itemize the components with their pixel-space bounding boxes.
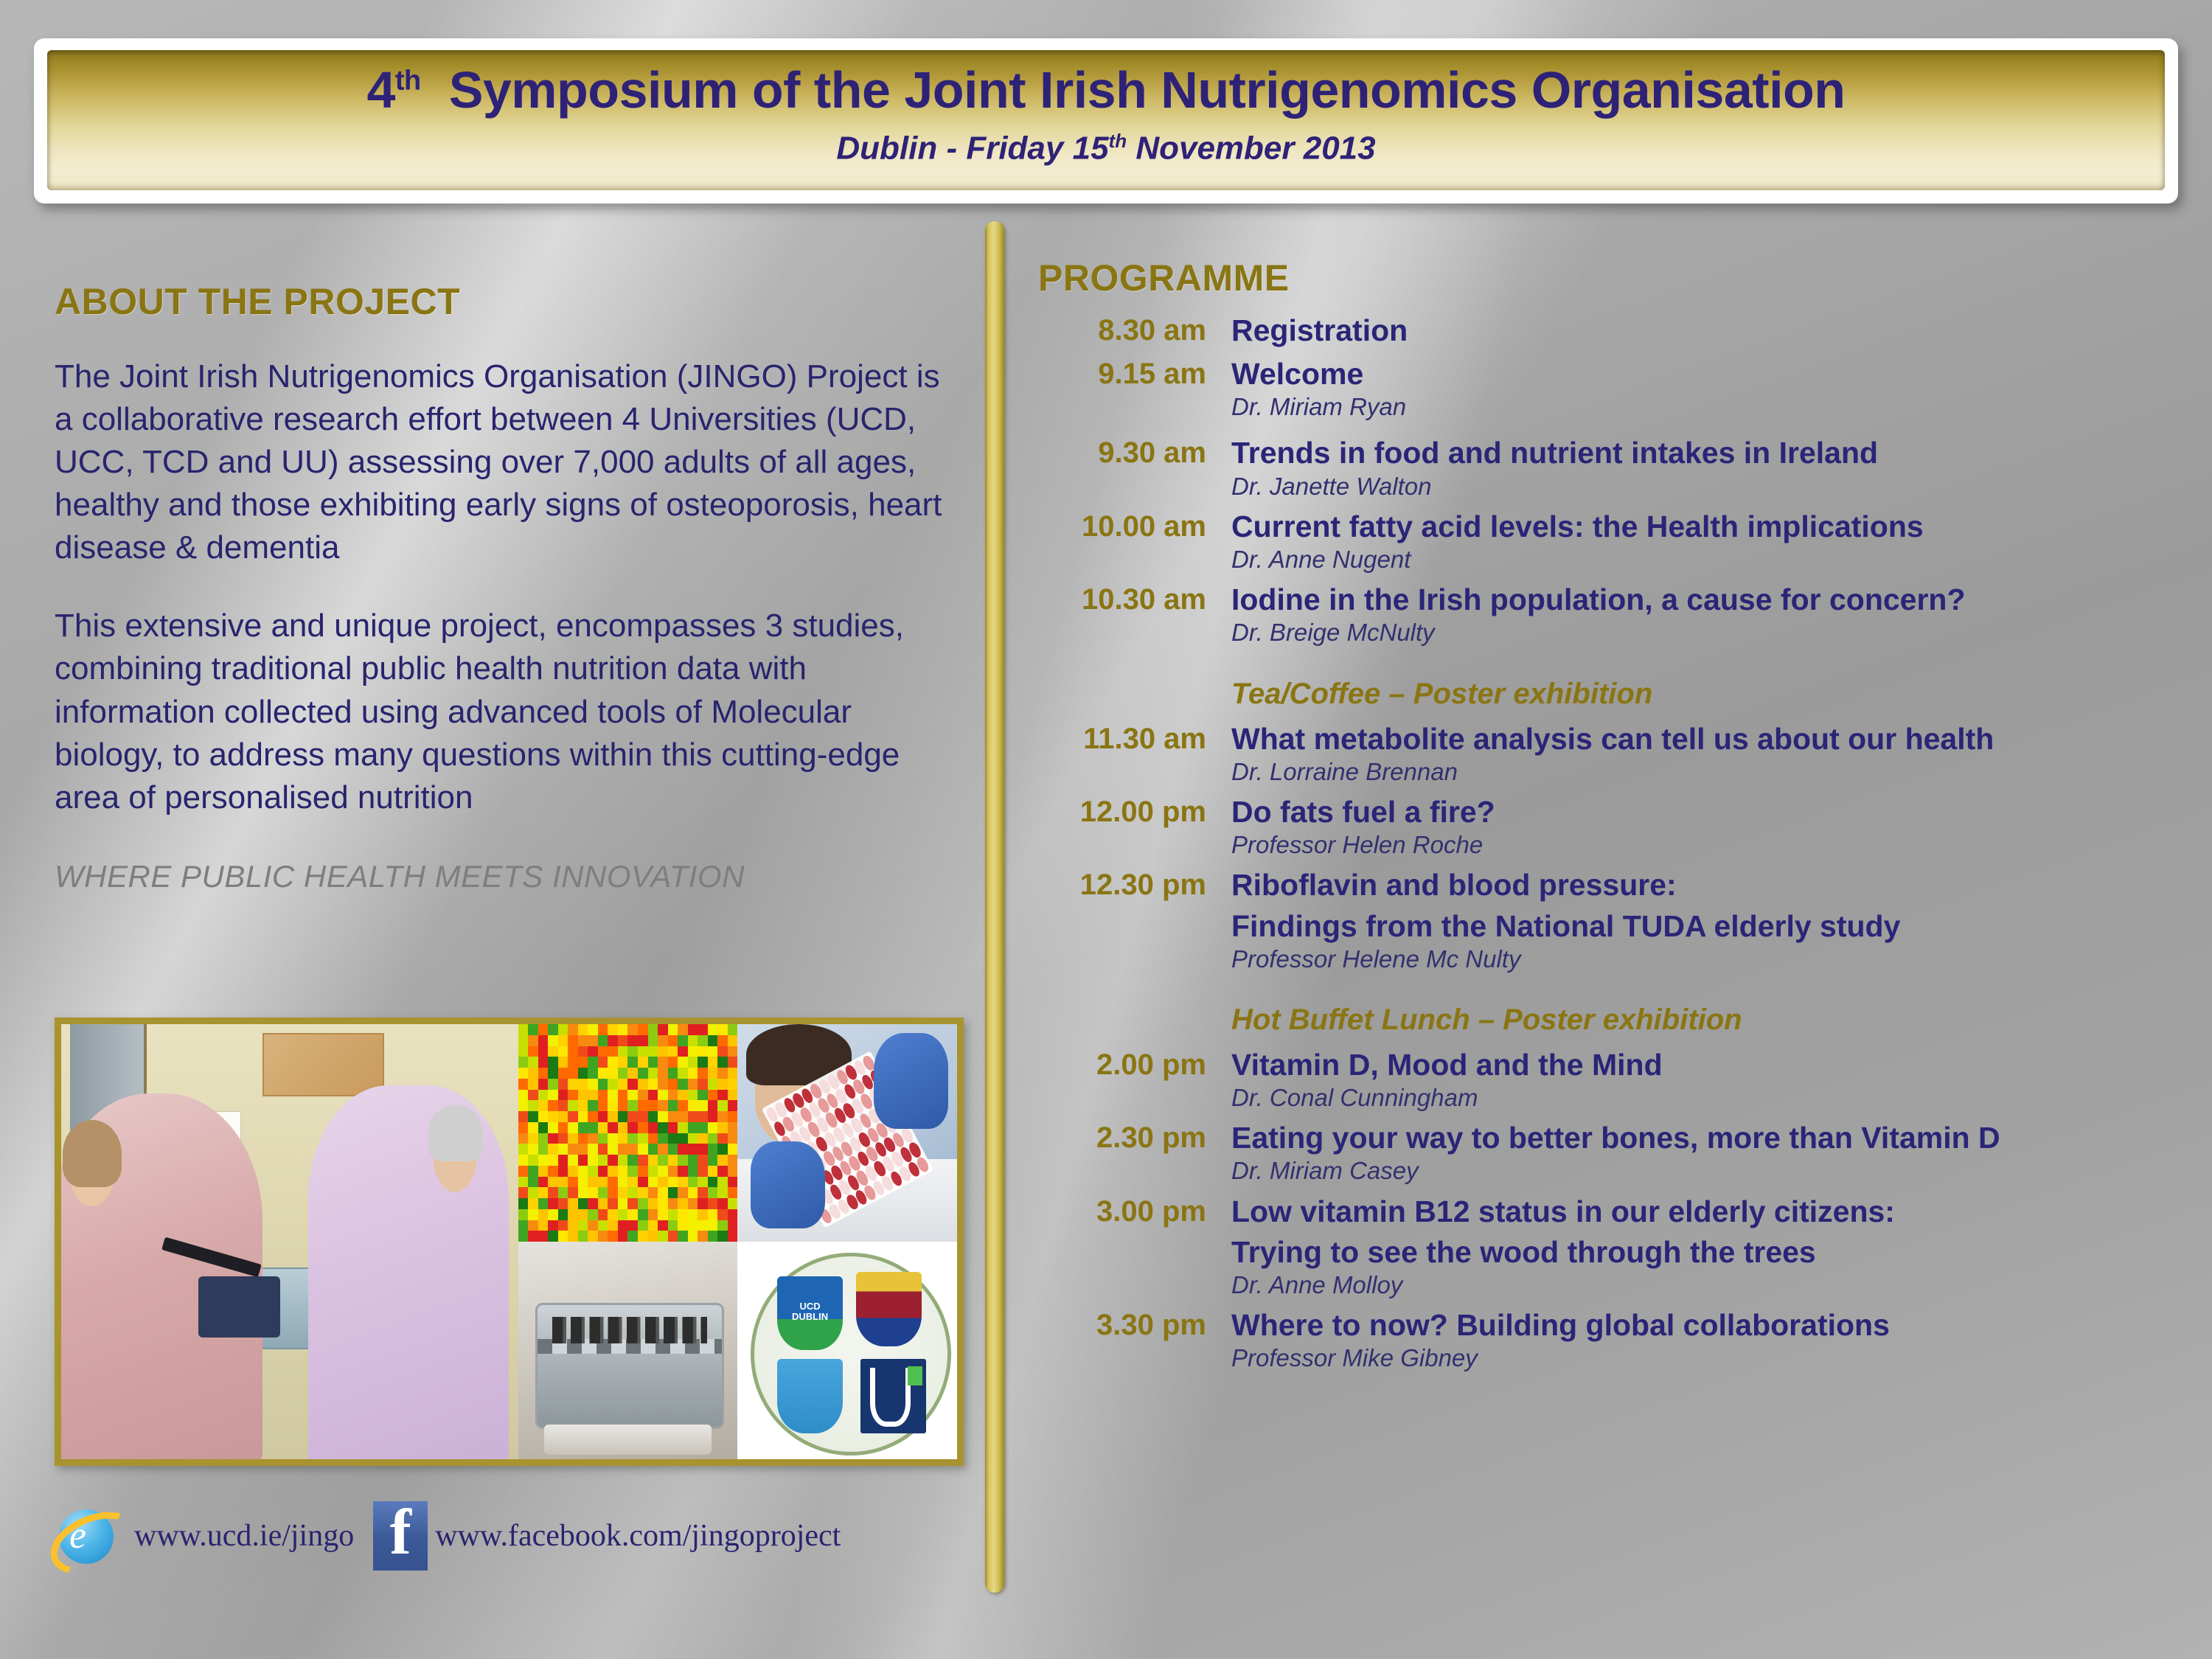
programme-talk-title: Vitamin D, Mood and the Mind <box>1231 1048 2188 1082</box>
programme-speaker: Professor Helene Mc Nulty <box>1231 946 2188 973</box>
programme-detail: Current fatty acid levels: the Health im… <box>1231 510 2188 573</box>
programme-break-label: Hot Buffet Lunch – Poster exhibition <box>1231 1004 2188 1037</box>
title-main: Symposium of the Joint Irish Nutrigenomi… <box>449 61 1846 119</box>
programme-row: 3.30 pmWhere to now? Building global col… <box>1038 1309 2188 1371</box>
programme-time: 8.30 am <box>1038 314 1231 347</box>
programme-row-gap <box>1038 647 2188 663</box>
programme-talk-title: Low vitamin B12 status in our elderly ci… <box>1231 1195 2188 1228</box>
programme-detail: Eating your way to better bones, more th… <box>1231 1121 2188 1184</box>
programme-speaker: Professor Mike Gibney <box>1231 1345 2188 1371</box>
programme-section: PROGRAMME 8.30 amRegistration9.15 amWelc… <box>1038 257 2188 1382</box>
programme-row-gap <box>1038 1111 2188 1121</box>
programme-row: 2.00 pmVitamin D, Mood and the MindDr. C… <box>1038 1048 2188 1111</box>
programme-speaker: Dr. Janette Walton <box>1231 473 2188 500</box>
programme-speaker: Dr. Anne Nugent <box>1231 546 2188 573</box>
programme-detail: WelcomeDr. Miriam Ryan <box>1231 358 2188 420</box>
programme-speaker: Dr. Anne Molloy <box>1231 1272 2188 1298</box>
programme-time: 2.00 pm <box>1038 1048 1231 1082</box>
programme-row: 9.30 amTrends in food and nutrient intak… <box>1038 437 2188 499</box>
programme-row-gap <box>1038 1298 2188 1309</box>
photo-centrifuge <box>518 1242 738 1459</box>
programme-detail: What metabolite analysis can tell us abo… <box>1231 723 2188 785</box>
programme-row-gap <box>1038 347 2188 358</box>
photo-gene-heatmap <box>518 1024 738 1242</box>
subtitle-post: November 2013 <box>1127 131 1376 167</box>
internet-explorer-icon[interactable]: e <box>49 1499 127 1573</box>
image-collage: UCDDUBLIN <box>55 1018 964 1466</box>
programme-talk-subtitle: Findings from the National TUDA elderly … <box>1231 910 2188 943</box>
title-ordinal: 4 <box>366 61 394 119</box>
programme-speaker: Professor Helen Roche <box>1231 832 2188 858</box>
programme-speaker: Dr. Breige McNulty <box>1231 619 2188 646</box>
programme-detail: Where to now? Building global collaborat… <box>1231 1309 2188 1371</box>
programme-detail: Low vitamin B12 status in our elderly ci… <box>1231 1195 2188 1298</box>
programme-row: 3.00 pmLow vitamin B12 status in our eld… <box>1038 1195 2188 1298</box>
programme-speaker: Dr. Miriam Ryan <box>1231 394 2188 420</box>
programme-break-label: Tea/Coffee – Poster exhibition <box>1231 678 2188 711</box>
ucc-crest-icon <box>856 1272 922 1346</box>
ucd-crest-icon: UCDDUBLIN <box>777 1276 843 1350</box>
header-banner: 4th Symposium of the Joint Irish Nutrige… <box>34 38 2178 204</box>
programme-talk-title: What metabolite analysis can tell us abo… <box>1231 723 2188 756</box>
programme-speaker: Dr. Miriam Casey <box>1231 1158 2188 1184</box>
programme-talk-title: Where to now? Building global collaborat… <box>1231 1309 2188 1342</box>
programme-time: 11.30 am <box>1038 723 1231 756</box>
about-tagline: WHERE PUBLIC HEALTH MEETS INNOVATION <box>55 859 961 894</box>
programme-time: 2.30 pm <box>1038 1121 1231 1155</box>
programme-talk-title: Eating your way to better bones, more th… <box>1231 1121 2188 1155</box>
column-divider <box>985 221 1004 1593</box>
programme-list: 8.30 amRegistration9.15 amWelcomeDr. Mir… <box>1038 314 2188 1382</box>
about-paragraph-1: The Joint Irish Nutrigenomics Organisati… <box>55 355 961 569</box>
programme-row: 10.00 amCurrent fatty acid levels: the H… <box>1038 510 2188 573</box>
programme-row-gap <box>1038 1372 2188 1382</box>
programme-row-gap <box>1038 573 2188 583</box>
ulster-university-logo-icon <box>860 1359 926 1433</box>
programme-heading: PROGRAMME <box>1038 257 2188 299</box>
website-link[interactable]: www.ucd.ie/jingo <box>134 1518 354 1554</box>
programme-detail: Iodine in the Irish population, a cause … <box>1231 583 2188 646</box>
subtitle-suffix: th <box>1109 130 1127 152</box>
programme-talk-title: Riboflavin and blood pressure: <box>1231 869 2188 902</box>
programme-time: 3.30 pm <box>1038 1309 1231 1342</box>
programme-talk-title: Trends in food and nutrient intakes in I… <box>1231 437 2188 470</box>
programme-talk-title: Registration <box>1231 314 2188 347</box>
programme-talk-title: Welcome <box>1231 358 2188 391</box>
title-ordinal-suffix: th <box>395 66 421 97</box>
programme-detail: Trends in food and nutrient intakes in I… <box>1231 437 2188 499</box>
programme-time: 9.15 am <box>1038 358 1231 391</box>
page-subtitle: Dublin - Friday 15th November 2013 <box>47 130 2165 167</box>
about-paragraph-2: This extensive and unique project, encom… <box>55 605 961 818</box>
programme-time: 3.00 pm <box>1038 1195 1231 1228</box>
facebook-link[interactable]: www.facebook.com/jingoproject <box>435 1518 841 1554</box>
programme-speaker: Dr. Lorraine Brennan <box>1231 759 2188 785</box>
programme-row: 10.30 amIodine in the Irish population, … <box>1038 583 2188 646</box>
programme-detail: Vitamin D, Mood and the MindDr. Conal Cu… <box>1231 1048 2188 1111</box>
programme-detail: Riboflavin and blood pressure:Findings f… <box>1231 869 2188 972</box>
programme-row-gap <box>1038 420 2188 437</box>
programme-row-gap <box>1038 500 2188 510</box>
about-heading: ABOUT THE PROJECT <box>55 280 961 323</box>
programme-time: 12.30 pm <box>1038 869 1231 902</box>
programme-talk-title: Iodine in the Irish population, a cause … <box>1231 583 2188 616</box>
programme-row: 2.30 pmEating your way to better bones, … <box>1038 1121 2188 1184</box>
about-section: ABOUT THE PROJECT The Joint Irish Nutrig… <box>55 280 961 894</box>
page-title: 4th Symposium of the Joint Irish Nutrige… <box>47 60 2165 119</box>
photo-lab-microplate <box>737 1024 957 1242</box>
programme-row: 8.30 amRegistration <box>1038 314 2188 347</box>
header-banner-inner: 4th Symposium of the Joint Irish Nutrige… <box>47 50 2165 190</box>
programme-break-row: Tea/Coffee – Poster exhibition <box>1038 678 2188 711</box>
tcd-crest-icon <box>777 1359 843 1433</box>
footer-links: e www.ucd.ie/jingo f www.facebook.com/ji… <box>49 1495 970 1576</box>
programme-time: 12.00 pm <box>1038 796 1231 829</box>
programme-time: 10.30 am <box>1038 583 1231 616</box>
programme-row-gap <box>1038 1185 2188 1195</box>
photo-clinician-blood-pressure <box>61 1024 518 1459</box>
facebook-icon[interactable]: f <box>373 1501 428 1571</box>
programme-row: 11.30 amWhat metabolite analysis can tel… <box>1038 723 2188 785</box>
programme-talk-title: Do fats fuel a fire? <box>1231 796 2188 829</box>
programme-row: 12.00 pmDo fats fuel a fire?Professor He… <box>1038 796 2188 858</box>
subtitle-pre: Dublin - Friday 15 <box>836 131 1108 167</box>
programme-detail: Do fats fuel a fire?Professor Helen Roch… <box>1231 796 2188 858</box>
programme-break-row: Hot Buffet Lunch – Poster exhibition <box>1038 1004 2188 1037</box>
university-logos-panel: UCDDUBLIN <box>737 1242 957 1459</box>
programme-row: 12.30 pmRiboflavin and blood pressure:Fi… <box>1038 869 2188 972</box>
programme-time: 10.00 am <box>1038 510 1231 543</box>
ucd-crest-line2: DUBLIN <box>792 1311 828 1322</box>
programme-row-gap <box>1038 785 2188 796</box>
programme-row-gap <box>1038 973 2188 989</box>
programme-row: 9.15 amWelcomeDr. Miriam Ryan <box>1038 358 2188 420</box>
programme-time: 9.30 am <box>1038 437 1231 470</box>
programme-row-gap <box>1038 858 2188 869</box>
programme-talk-subtitle: Trying to see the wood through the trees <box>1231 1236 2188 1269</box>
programme-detail: Registration <box>1231 314 2188 347</box>
programme-talk-title: Current fatty acid levels: the Health im… <box>1231 510 2188 543</box>
programme-speaker: Dr. Conal Cunningham <box>1231 1085 2188 1111</box>
